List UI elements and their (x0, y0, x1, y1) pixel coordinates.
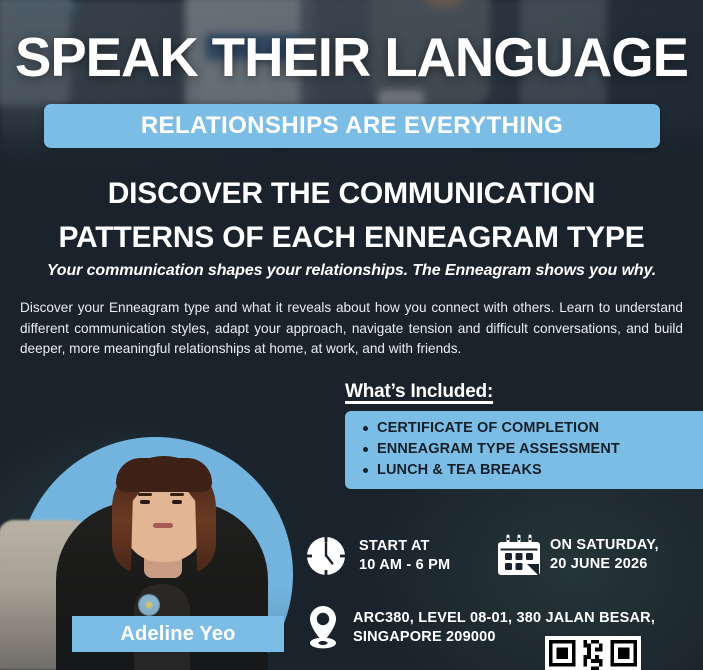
hero-ribbon: RELATIONSHIPS ARE EVERYTHING (44, 104, 660, 148)
location-pin-icon (303, 604, 343, 652)
whats-included-list: CERTIFICATE OF COMPLETION ENNEAGRAM TYPE… (345, 418, 703, 481)
speaker-eye-right (172, 500, 182, 504)
detail-date-line2: 20 JUNE 2026 (550, 555, 659, 574)
speaker-brow-left (138, 493, 152, 496)
speaker-name-label: Adeline Yeo (120, 623, 235, 646)
speaker-eye-left (140, 500, 150, 504)
headline: DISCOVER THE COMMUNICATION PATTERNS OF E… (0, 172, 703, 259)
event-poster: SPEAK THEIR LANGUAGE RELATIONSHIPS ARE E… (0, 0, 703, 670)
whats-included-title: What’s Included: (345, 381, 493, 403)
detail-date: ON SATURDAY, 20 JUNE 2026 (498, 533, 659, 577)
speaker-mouth (153, 523, 173, 528)
detail-time: START AT 10 AM - 6 PM (303, 533, 450, 579)
clock-icon (303, 533, 349, 579)
detail-date-line1: ON SATURDAY, (550, 536, 659, 555)
qr-code-pattern (545, 636, 641, 670)
list-item: LUNCH & TEA BREAKS (377, 460, 703, 481)
speaker-brow-right (170, 493, 184, 496)
calendar-icon (498, 533, 540, 577)
detail-time-line1: START AT (359, 537, 450, 556)
tagline: Your communication shapes your relations… (0, 262, 703, 280)
speaker-portrait: Adeline Yeo (0, 375, 315, 670)
list-item: CERTIFICATE OF COMPLETION (377, 418, 703, 439)
whats-included-box: CERTIFICATE OF COMPLETION ENNEAGRAM TYPE… (345, 411, 703, 489)
headline-line-1: DISCOVER THE COMMUNICATION (0, 172, 703, 216)
poster-main-title: SPEAK THEIR LANGUAGE (4, 30, 700, 85)
detail-time-text: START AT 10 AM - 6 PM (359, 537, 450, 575)
detail-time-line2: 10 AM - 6 PM (359, 556, 450, 575)
list-item: ENNEAGRAM TYPE ASSESSMENT (377, 439, 703, 460)
body-paragraph: Discover your Enneagram type and what it… (20, 298, 683, 360)
detail-location-line1: ARC380, LEVEL 08-01, 380 JALAN BESAR, (353, 609, 655, 628)
headline-line-2: PATTERNS OF EACH ENNEAGRAM TYPE (0, 216, 703, 260)
qr-code-icon[interactable] (545, 636, 641, 670)
speaker-brooch (138, 594, 160, 616)
hero-ribbon-label: RELATIONSHIPS ARE EVERYTHING (141, 112, 563, 140)
speaker-fringe (116, 458, 212, 492)
detail-date-text: ON SATURDAY, 20 JUNE 2026 (550, 536, 659, 574)
speaker-name-badge: Adeline Yeo (72, 616, 284, 652)
